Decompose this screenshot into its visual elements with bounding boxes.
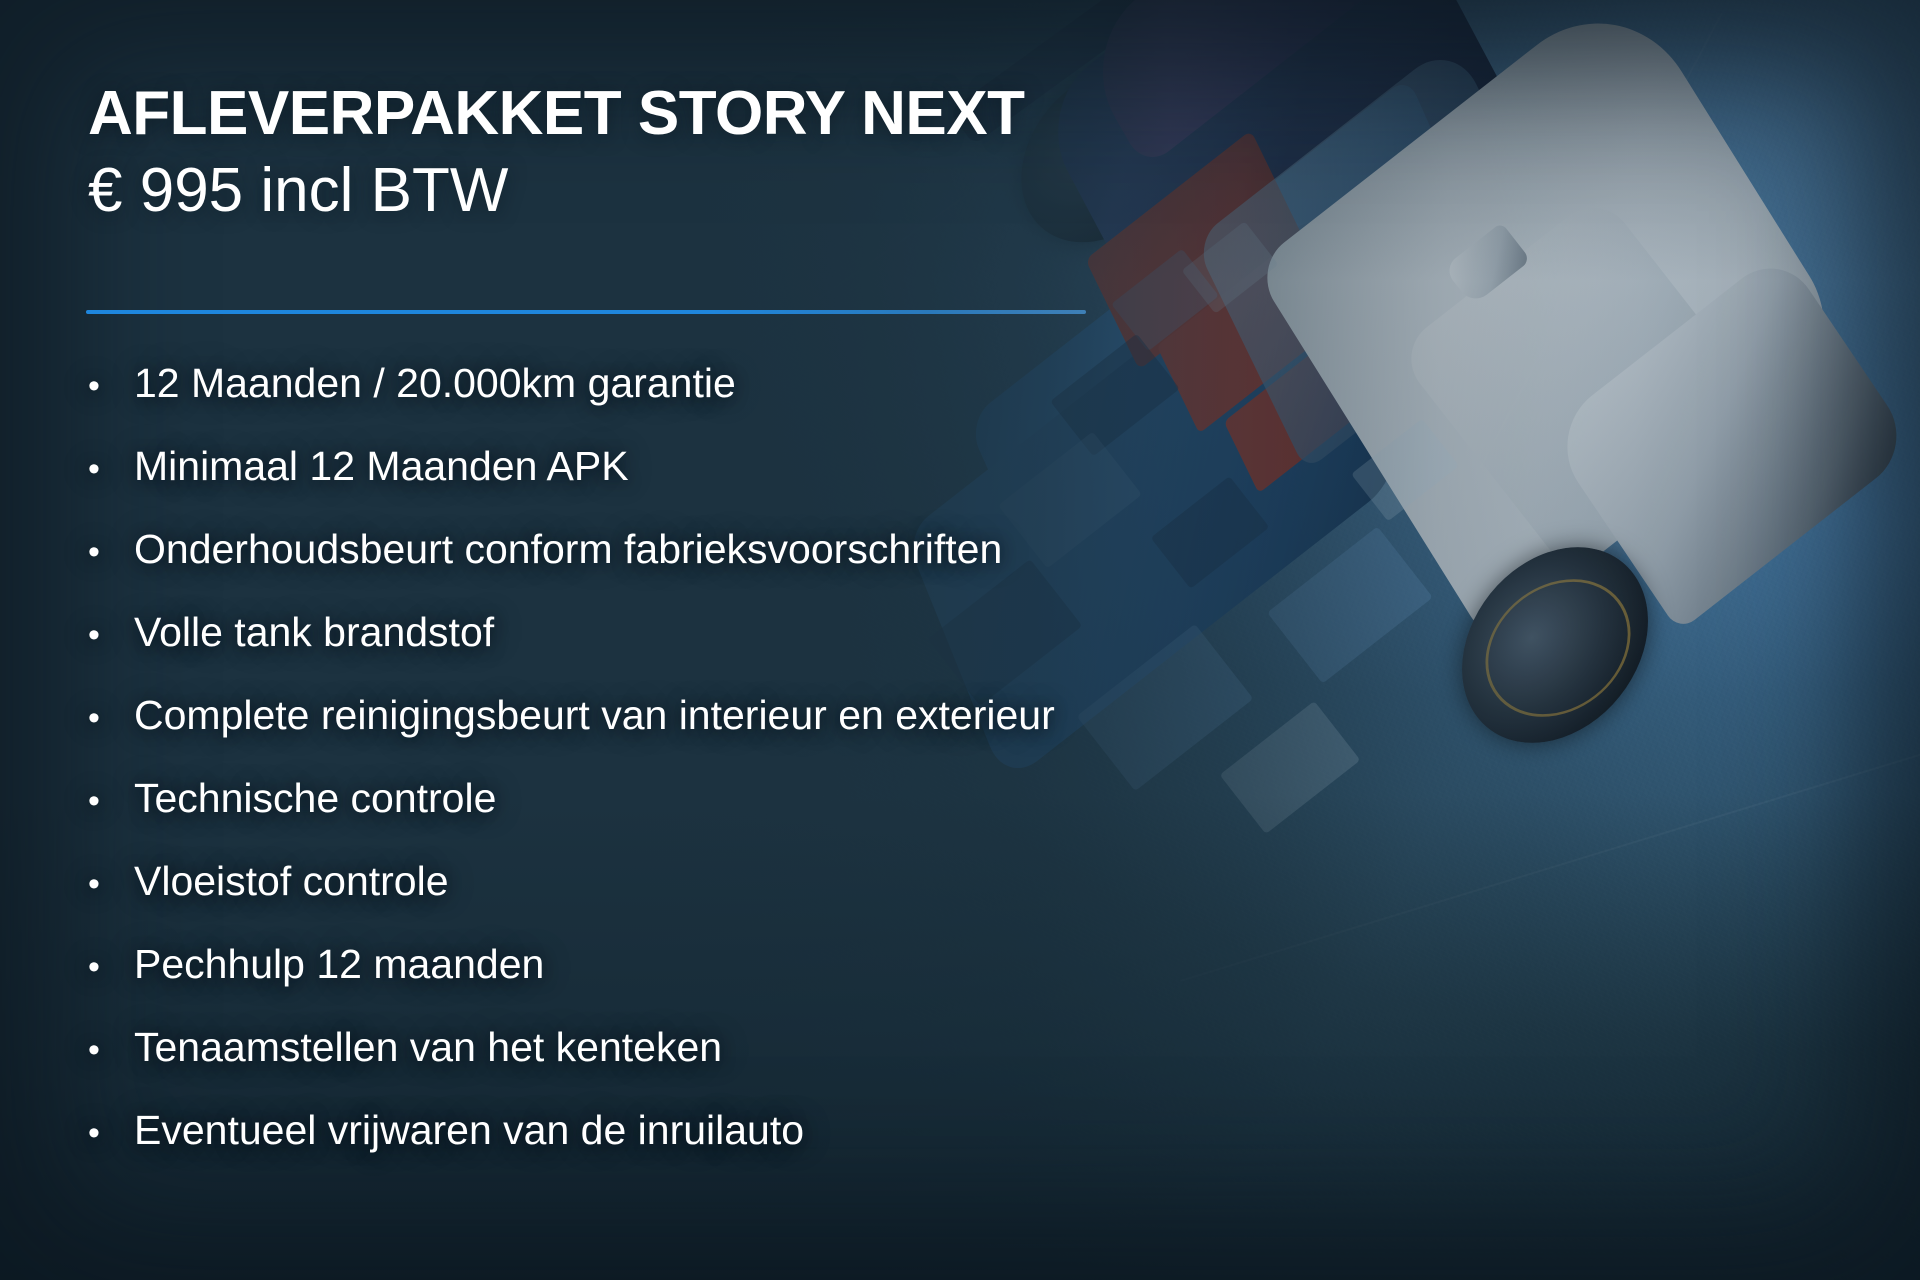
bullet-icon: • (88, 1116, 134, 1150)
bullet-icon: • (88, 784, 134, 818)
list-item-label: Minimaal 12 Maanden APK (134, 443, 629, 490)
list-item-label: Onderhoudsbeurt conform fabrieksvoorschr… (134, 526, 1002, 573)
list-item-label: Technische controle (134, 775, 496, 822)
list-item-label: Eventueel vrijwaren van de inruilauto (134, 1107, 804, 1154)
content-layer: AFLEVERPAKKET STORY NEXT € 995 incl BTW … (0, 0, 1920, 1280)
accent-divider (86, 310, 1086, 314)
list-item: •Minimaal 12 Maanden APK (88, 443, 1388, 526)
bullet-icon: • (88, 701, 134, 735)
list-item: •Tenaamstellen van het kenteken (88, 1024, 1388, 1107)
bullet-icon: • (88, 452, 134, 486)
bullet-icon: • (88, 618, 134, 652)
list-item-label: Tenaamstellen van het kenteken (134, 1024, 722, 1071)
list-item-label: 12 Maanden / 20.000km garantie (134, 360, 736, 407)
list-item: •Eventueel vrijwaren van de inruilauto (88, 1107, 1388, 1190)
bullet-icon: • (88, 950, 134, 984)
list-item: •12 Maanden / 20.000km garantie (88, 360, 1388, 443)
bullet-icon: • (88, 535, 134, 569)
list-item-label: Complete reinigingsbeurt van interieur e… (134, 692, 1055, 739)
list-item: •Technische controle (88, 775, 1388, 858)
list-item: •Volle tank brandstof (88, 609, 1388, 692)
list-item: •Complete reinigingsbeurt van interieur … (88, 692, 1388, 775)
price-subtitle: € 995 incl BTW (88, 155, 508, 226)
list-item-label: Vloeistof controle (134, 858, 449, 905)
page-title: AFLEVERPAKKET STORY NEXT (88, 78, 1025, 149)
bullet-icon: • (88, 1033, 134, 1067)
bullet-icon: • (88, 867, 134, 901)
list-item: •Onderhoudsbeurt conform fabrieksvoorsch… (88, 526, 1388, 609)
list-item-label: Volle tank brandstof (134, 609, 494, 656)
list-item: •Pechhulp 12 maanden (88, 941, 1388, 1024)
list-item: •Vloeistof controle (88, 858, 1388, 941)
bullet-icon: • (88, 369, 134, 403)
promo-banner: AFLEVERPAKKET STORY NEXT € 995 incl BTW … (0, 0, 1920, 1280)
list-item-label: Pechhulp 12 maanden (134, 941, 544, 988)
feature-list: •12 Maanden / 20.000km garantie•Minimaal… (88, 360, 1388, 1190)
